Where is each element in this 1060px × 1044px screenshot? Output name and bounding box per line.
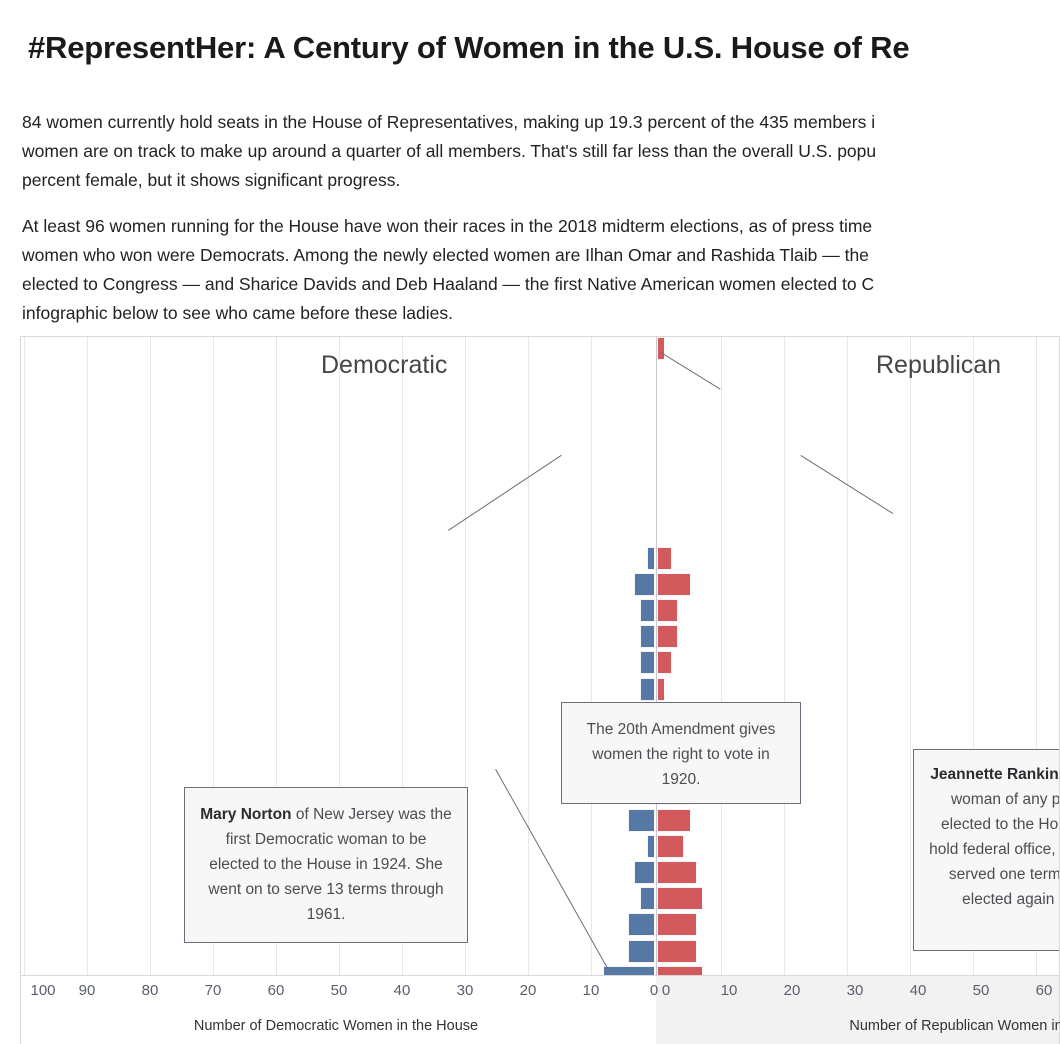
bar-republican	[658, 548, 671, 569]
callout-jeannette-rankin: Jeannette Rankin was the first woman of …	[913, 749, 1060, 951]
bar-democratic	[641, 888, 654, 909]
bar-republican	[658, 836, 683, 857]
axis-label-democratic: Number of Democratic Women in the House	[194, 1018, 478, 1034]
axis-tick-left: 20	[520, 982, 537, 999]
axis-tick-right: 40	[910, 982, 927, 999]
paragraph-line: At least 96 women running for the House …	[22, 212, 1060, 241]
paragraph-line: percent female, but it shows significant…	[22, 166, 1060, 195]
panel-title-democratic: Democratic	[321, 351, 447, 380]
gridline	[24, 337, 25, 975]
axis-tick-left: 80	[142, 982, 159, 999]
axis-tick-left: 40	[394, 982, 411, 999]
leader-20th-amendment	[660, 352, 721, 390]
bar-republican	[658, 862, 696, 883]
bar-democratic	[641, 652, 654, 673]
axis-tick-right: 10	[721, 982, 738, 999]
bar-republican	[658, 679, 664, 700]
bar-republican	[658, 888, 702, 909]
bar-democratic	[641, 626, 654, 647]
bar-republican	[658, 941, 696, 962]
bar-republican	[658, 338, 664, 359]
paragraph-line: women who won were Democrats. Among the …	[22, 241, 1060, 270]
bar-republican	[658, 914, 696, 935]
axis-tick-right: 30	[847, 982, 864, 999]
axis-tick-left: 60	[268, 982, 285, 999]
callout-text: Mary Norton of New Jersey was the first …	[200, 806, 452, 923]
axis-tick-left: 50	[331, 982, 348, 999]
bar-democratic	[629, 810, 654, 831]
gridline	[528, 337, 529, 975]
callout-20th-amendment: The 20th Amendment gives women the right…	[561, 702, 801, 804]
axis-tick-right: 20	[784, 982, 801, 999]
axis-tick-left: 30	[457, 982, 474, 999]
panel-title-republican: Republican	[876, 351, 1001, 380]
bar-democratic	[641, 600, 654, 621]
axis-label-republican: Number of Republican Women in	[849, 1018, 1060, 1034]
article-paragraph-2: At least 96 women running for the House …	[22, 212, 1060, 328]
axis-tick-right: 60	[1036, 982, 1053, 999]
paragraph-line: women are on track to make up around a q…	[22, 137, 1060, 166]
bar-democratic	[648, 836, 654, 857]
page-root: #RepresentHer: A Century of Women in the…	[0, 0, 1060, 1044]
callout-person-name: Mary Norton	[200, 806, 291, 823]
bar-republican	[658, 810, 690, 831]
bar-democratic	[641, 679, 654, 700]
axis-tick-left: 0	[650, 982, 658, 999]
bar-republican	[658, 652, 671, 673]
callout-person-name: Jeannette Rankin	[930, 766, 1058, 783]
page-title: #RepresentHer: A Century of Women in the…	[28, 30, 909, 66]
axis-tick-left: 70	[205, 982, 222, 999]
axis-tick-left: 10	[583, 982, 600, 999]
callout-text: Jeannette Rankin was the first woman of …	[929, 766, 1060, 908]
callout-text: The 20th Amendment gives women the right…	[587, 721, 776, 788]
bar-democratic	[629, 914, 654, 935]
paragraph-line: infographic below to see who came before…	[22, 299, 1060, 328]
bar-republican	[658, 574, 690, 595]
bar-democratic	[635, 574, 654, 595]
diverging-bar-chart: Democratic Republican The 20th Amendment…	[20, 336, 1060, 976]
callout-mary-norton: Mary Norton of New Jersey was the first …	[184, 787, 468, 943]
bar-democratic	[635, 862, 654, 883]
axis-tick-right: 0	[662, 982, 670, 999]
gridline	[847, 337, 848, 975]
gridline	[784, 337, 785, 975]
paragraph-line: 84 women currently hold seats in the Hou…	[22, 108, 1060, 137]
bar-democratic	[648, 548, 654, 569]
bar-republican	[658, 600, 677, 621]
article-paragraph-1: 84 women currently hold seats in the Hou…	[22, 108, 1060, 195]
gridline	[721, 337, 722, 975]
bar-democratic	[629, 941, 654, 962]
axis-tick-right: 50	[973, 982, 990, 999]
axis-tick-left: 100	[30, 982, 55, 999]
zero-axis-line	[656, 337, 657, 975]
bar-republican	[658, 967, 702, 976]
gridline	[910, 337, 911, 975]
bar-republican	[658, 626, 677, 647]
gridline	[87, 337, 88, 975]
gridline	[150, 337, 151, 975]
axis-tick-left: 90	[79, 982, 96, 999]
chart-x-axis: 10090807060504030201000102030405060 Numb…	[20, 976, 1060, 1044]
paragraph-line: elected to Congress — and Sharice Davids…	[22, 270, 1060, 299]
gridline	[591, 337, 592, 975]
